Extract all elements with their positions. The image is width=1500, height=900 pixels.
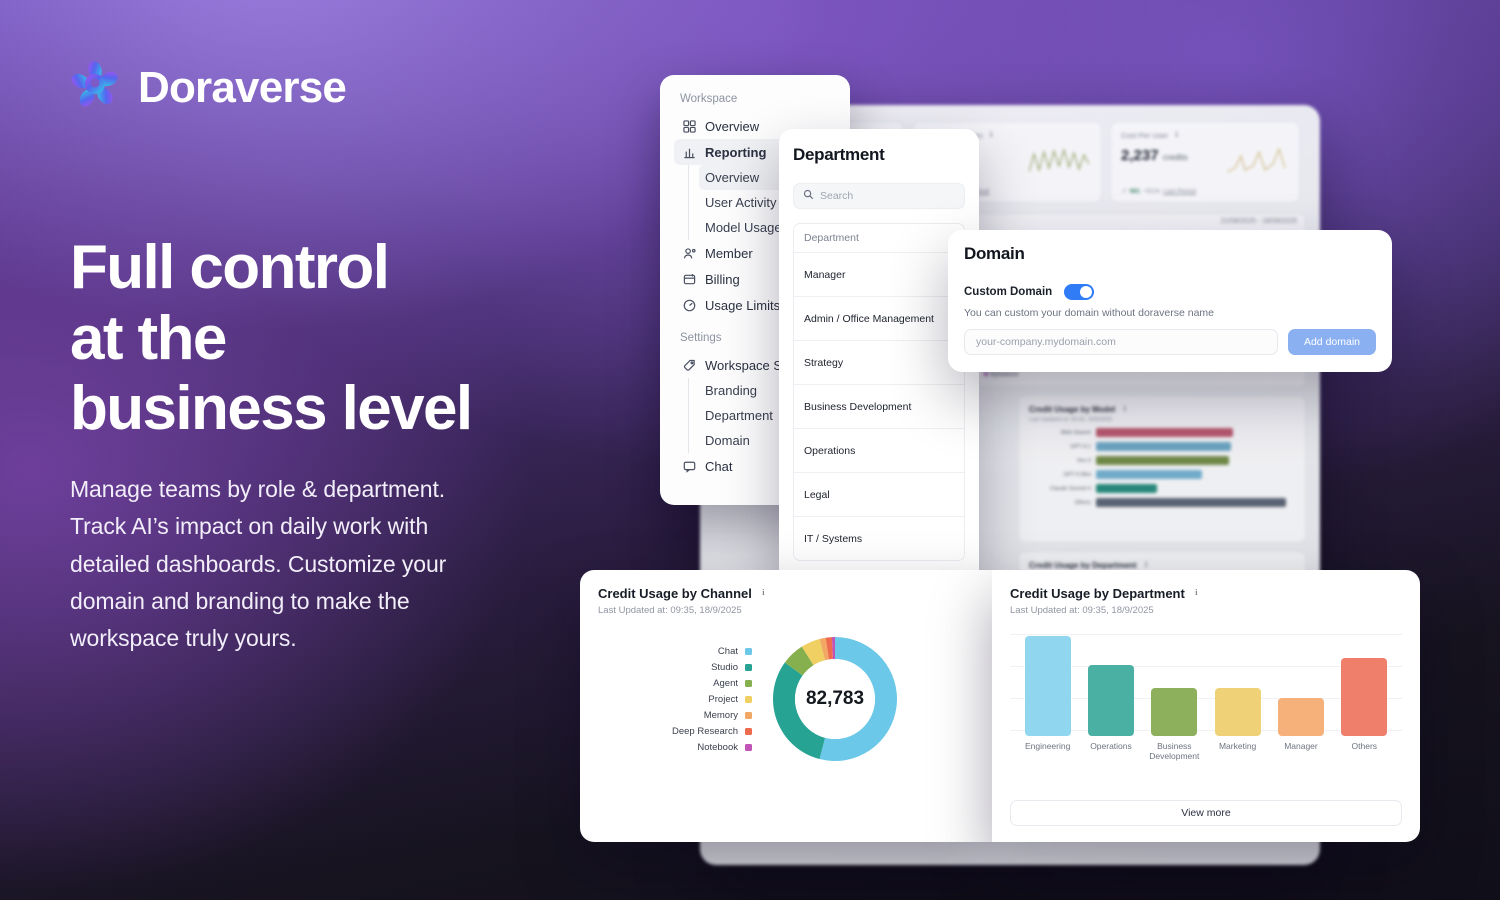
bar[interactable]	[1088, 665, 1134, 736]
hero-section: Doraverse Full control at the business l…	[70, 60, 590, 657]
sidebar-item-label: Overview	[705, 119, 759, 134]
info-icon[interactable]: i	[758, 588, 769, 599]
donut-legend-item: Memory	[598, 707, 752, 723]
info-icon: i	[1171, 130, 1182, 141]
custom-domain-help: You can custom your domain without dorav…	[964, 307, 1376, 319]
brand-name: Doraverse	[138, 63, 346, 113]
donut-legend: ChatStudioAgentProjectMemoryDeep Researc…	[598, 643, 758, 755]
department-list: Department ManagerAdmin / Office Managem…	[793, 223, 965, 561]
donut-legend-item: Chat	[598, 643, 752, 659]
search-placeholder: Search	[820, 190, 853, 202]
donut-legend-label: Deep Research	[672, 726, 738, 737]
info-icon[interactable]: i	[1191, 588, 1202, 599]
card-subtitle: Last Updated at: 09:35, 18/9/2025	[1029, 417, 1295, 423]
credit-usage-by-department-card: Credit Usage by Department i Last Update…	[992, 570, 1420, 842]
sidebar-item-label: Chat	[705, 459, 732, 474]
card-title: Credit Usage by Model	[1029, 405, 1115, 414]
donut-legend-item: Agent	[598, 675, 752, 691]
hero-subcopy: Manage teams by role & department. Track…	[70, 471, 450, 657]
donut-legend-item: Notebook	[598, 739, 752, 755]
donut-center-total: 82,783	[795, 659, 875, 739]
grid-icon	[682, 119, 696, 133]
bar[interactable]	[1215, 688, 1261, 736]
bar-column: Marketing	[1211, 688, 1265, 736]
donut-legend-label: Memory	[704, 710, 738, 721]
card-icon	[682, 272, 696, 286]
card-title-row: Credit Usage by Department i	[1010, 586, 1402, 601]
domain-input-row: your-company.mydomain.com Add domain	[964, 329, 1376, 355]
department-row[interactable]: Legal	[794, 472, 964, 516]
bar-column: Manager	[1274, 698, 1328, 736]
sparkline	[1029, 146, 1091, 176]
sidebar-item-label: Member	[705, 246, 753, 261]
custom-domain-label: Custom Domain	[964, 286, 1052, 298]
department-column-header: Department	[794, 224, 964, 252]
view-more-button[interactable]: View more	[1010, 800, 1402, 826]
user-icon	[682, 246, 696, 260]
credit-usage-by-channel-card: Credit Usage by Channel i Last Updated a…	[580, 570, 992, 842]
panel-title: Domain	[964, 244, 1376, 264]
model-bar-row: Veo 3	[1029, 456, 1295, 465]
model-bar-label: Claude Sonnet 4	[1029, 486, 1091, 492]
model-bar	[1096, 498, 1286, 507]
legend-swatch	[745, 648, 752, 655]
bar-column: Others	[1337, 658, 1391, 736]
model-bar-label: Others	[1029, 500, 1091, 506]
legend-swatch	[745, 712, 752, 719]
card-title: Credit Usage by Department	[1029, 561, 1137, 570]
department-row[interactable]: Manager	[794, 252, 964, 296]
legend-swatch	[745, 744, 752, 751]
domain-input-placeholder: your-company.mydomain.com	[976, 336, 1116, 348]
bar[interactable]	[1025, 636, 1071, 736]
trend-up-icon: ↗	[1121, 187, 1126, 195]
custom-domain-row: Custom Domain	[964, 284, 1376, 300]
legend-item: Bytedance	[984, 372, 1018, 378]
department-row[interactable]: Strategy	[794, 340, 964, 384]
card-title: Credit Usage by Department	[1010, 586, 1185, 601]
department-row[interactable]: IT / Systems	[794, 516, 964, 560]
stat-unit: credits	[1163, 152, 1188, 162]
stat-delta-text: Last Period	[1163, 188, 1196, 195]
model-bar-label: GPT-4.1	[1029, 444, 1091, 450]
page-title: Full control at the business level	[70, 233, 590, 445]
add-domain-button[interactable]: Add domain	[1288, 329, 1376, 355]
donut-legend-label: Agent	[713, 678, 738, 689]
sidebar-item-label: Billing	[705, 272, 740, 287]
card-subtitle: Last Updated at: 09:35, 18/9/2025	[1010, 605, 1402, 616]
panel-title: Department	[793, 145, 965, 165]
search-input[interactable]: Search	[793, 183, 965, 209]
bar-chart-icon	[682, 145, 696, 159]
horizontal-bar-list: Web SearchGPT-4.1Veo 3GPT-5 MiniClaude S…	[1029, 428, 1295, 507]
model-bar	[1096, 470, 1202, 479]
donut-legend-item: Deep Research	[598, 723, 752, 739]
model-bar-row: GPT-4.1	[1029, 442, 1295, 451]
stat-value: 2,237	[1121, 147, 1159, 164]
model-bar	[1096, 456, 1229, 465]
stat-delta: 981	[1129, 188, 1140, 195]
card-title-row: Credit Usage by Channel i	[598, 586, 974, 601]
legend-swatch	[745, 680, 752, 687]
search-icon	[803, 189, 814, 203]
flower-logo-icon	[70, 60, 120, 115]
model-bar-label: Veo 3	[1029, 458, 1091, 464]
gauge-icon	[682, 298, 696, 312]
model-bar	[1096, 428, 1233, 437]
card-subtitle: Last Updated at: 09:35, 18/9/2025	[598, 605, 974, 616]
model-bar	[1096, 442, 1231, 451]
donut-legend-label: Chat	[718, 646, 738, 657]
sidebar-section-workspace: Workspace	[680, 93, 836, 105]
info-icon: i	[986, 130, 997, 141]
bar-column: Operations	[1084, 665, 1138, 736]
donut-legend-label: Project	[708, 694, 738, 705]
bar[interactable]	[1278, 698, 1324, 736]
model-bar-row: Web Search	[1029, 428, 1295, 437]
sparkline	[1227, 146, 1289, 176]
bar[interactable]	[1151, 688, 1197, 736]
bar[interactable]	[1341, 658, 1387, 736]
chat-icon	[682, 459, 696, 473]
legend-swatch	[745, 728, 752, 735]
model-bar-row: Others	[1029, 498, 1295, 507]
model-bar-row: Claude Sonnet 4	[1029, 484, 1295, 493]
donut-chart-wrapper: ChatStudioAgentProjectMemoryDeep Researc…	[598, 630, 974, 768]
card-title: Credit Usage by Channel	[598, 586, 752, 601]
stat-delta-pct: +51%	[1143, 188, 1160, 195]
donut-legend-label: Notebook	[697, 742, 738, 753]
domain-input[interactable]: your-company.mydomain.com	[964, 329, 1278, 355]
info-icon: i	[1119, 404, 1130, 415]
bar-column: Business Development	[1147, 688, 1201, 736]
donut-legend-label: Studio	[711, 662, 738, 673]
stat-title: Cost Per User	[1121, 131, 1168, 140]
model-bar	[1096, 484, 1157, 493]
donut-chart: 82,783	[766, 630, 904, 768]
department-row[interactable]: Operations	[794, 428, 964, 472]
legend-swatch	[745, 664, 752, 671]
donut-legend-item: Studio	[598, 659, 752, 675]
model-bar-row: GPT-5 Mini	[1029, 470, 1295, 479]
sidebar-item-label: Reporting	[705, 145, 766, 160]
stat-card: Cost Per Useri 2,237 credits ↗981+51%Las…	[1110, 121, 1300, 203]
model-bar-label: GPT-5 Mini	[1029, 472, 1091, 478]
department-row[interactable]: Business Development	[794, 384, 964, 428]
bar-column: Engineering	[1021, 636, 1075, 736]
legend-swatch	[745, 696, 752, 703]
sidebar-item-label: Usage Limits	[705, 298, 780, 313]
brand-lockup: Doraverse	[70, 60, 590, 115]
department-row[interactable]: Admin / Office Management	[794, 296, 964, 340]
department-bar-chart: EngineeringOperationsBusiness Developmen…	[1010, 632, 1402, 760]
domain-panel: Domain Custom Domain You can custom your…	[948, 230, 1392, 372]
custom-domain-toggle[interactable]	[1064, 284, 1094, 300]
credit-usage-by-model-card: Credit Usage by Modeli Last Updated at: …	[1018, 395, 1306, 543]
tag-icon	[682, 358, 696, 372]
model-bar-label: Web Search	[1029, 430, 1091, 436]
donut-legend-item: Project	[598, 691, 752, 707]
date-range-label: 21/08/2025 - 18/09/2025	[1221, 218, 1297, 225]
